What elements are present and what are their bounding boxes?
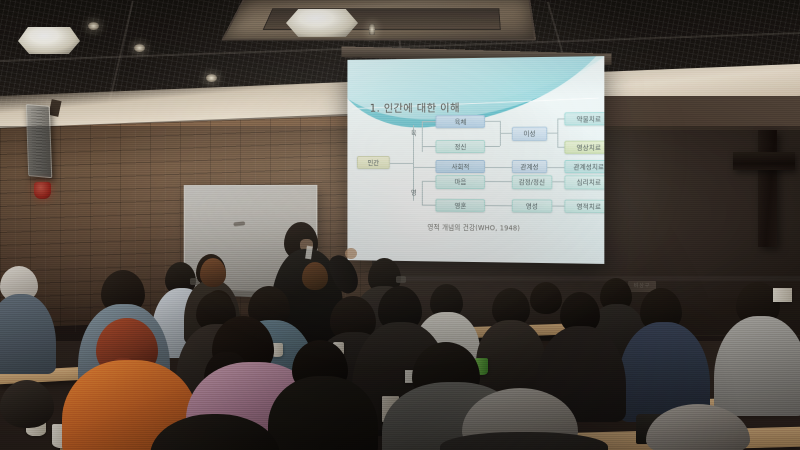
diagram-box-level3: 영상치료 <box>564 140 604 154</box>
diagram-connector <box>557 119 558 148</box>
ceiling-light-fixture <box>18 27 80 54</box>
slide-canvas: 1. 인간에 대한 이해 인간 육 영 육체 정신 <box>347 56 604 264</box>
diagram-connector <box>552 182 564 183</box>
diagram-branch-label-spirit: 영 <box>406 186 422 197</box>
diagram-connector <box>485 146 499 147</box>
diagram-box-level3: 심리치료 <box>564 175 604 189</box>
diagram-box-level3: 관계성치료 <box>564 160 604 174</box>
attendee-head <box>302 262 328 290</box>
diagram-connector <box>500 133 512 134</box>
diagram-box-level1: 육체 <box>436 115 485 128</box>
diagram-box-level3: 영적치료 <box>564 199 604 213</box>
ceiling-downlight-icon <box>206 74 217 82</box>
diagram-box-level1: 영혼 <box>436 199 485 213</box>
diagram-connector <box>422 146 436 147</box>
tissue-box <box>773 288 792 302</box>
lecture-hall-photo: 비상구 1. 인간에 대한 이해 인간 육 영 <box>0 0 800 450</box>
diagram-connector <box>422 181 423 205</box>
diagram-box-level2: 영성 <box>511 199 552 213</box>
diagram-branch-label-body: 육 <box>406 128 422 139</box>
diagram-connector <box>485 205 511 206</box>
ceiling-tile-line <box>108 1 133 103</box>
presenter-hand <box>345 248 357 259</box>
diagram-box-level3: 약물치료 <box>564 112 604 126</box>
diagram-connector <box>548 167 565 168</box>
attendee-head <box>530 282 562 314</box>
diagram-box-level1: 마음 <box>436 175 485 188</box>
diagram-connector <box>422 121 436 122</box>
diagram-connector <box>413 167 436 168</box>
slide-diagram: 인간 육 영 육체 정신 이성 <box>357 114 593 218</box>
diagram-connector <box>485 121 499 122</box>
diagram-connector <box>557 147 564 148</box>
ceiling-air-conditioner-vent <box>221 0 536 41</box>
diagram-box-level2: 감정/정신 <box>511 175 552 188</box>
ceiling-downlight-icon <box>88 22 99 30</box>
diagram-box-level2: 관계성 <box>511 160 547 173</box>
projected-slide: 1. 인간에 대한 이해 인간 육 영 육체 정신 <box>347 56 604 264</box>
diagram-connector <box>552 205 564 206</box>
ceiling-downlight-icon <box>134 44 145 52</box>
projection-screen: 1. 인간에 대한 이해 인간 육 영 육체 정신 <box>347 56 604 264</box>
slide-source-attribution: 영적 개념의 건강(WHO, 1948) <box>347 221 604 233</box>
diagram-connector <box>548 133 558 134</box>
diagram-connector <box>485 181 511 182</box>
attendee-head <box>0 380 54 428</box>
ceiling-sprinkler-icon <box>369 24 375 35</box>
diagram-box-level1: 사회적 <box>436 160 485 173</box>
diagram-box-level2: 이성 <box>511 127 547 140</box>
diagram-connector <box>422 181 436 182</box>
diagram-connector <box>389 163 412 164</box>
slide-title: 1. 인간에 대한 이해 <box>370 100 460 116</box>
diagram-connector <box>422 205 436 206</box>
eyeglasses-icon <box>396 276 406 283</box>
diagram-connector <box>422 122 423 152</box>
diagram-root-box: 인간 <box>357 156 389 169</box>
diagram-box-level1: 정신 <box>436 140 485 153</box>
attendee-head <box>200 258 226 287</box>
ceiling-light-fixture <box>286 9 358 37</box>
diagram-connector <box>557 119 564 120</box>
diagram-connector <box>485 167 511 168</box>
